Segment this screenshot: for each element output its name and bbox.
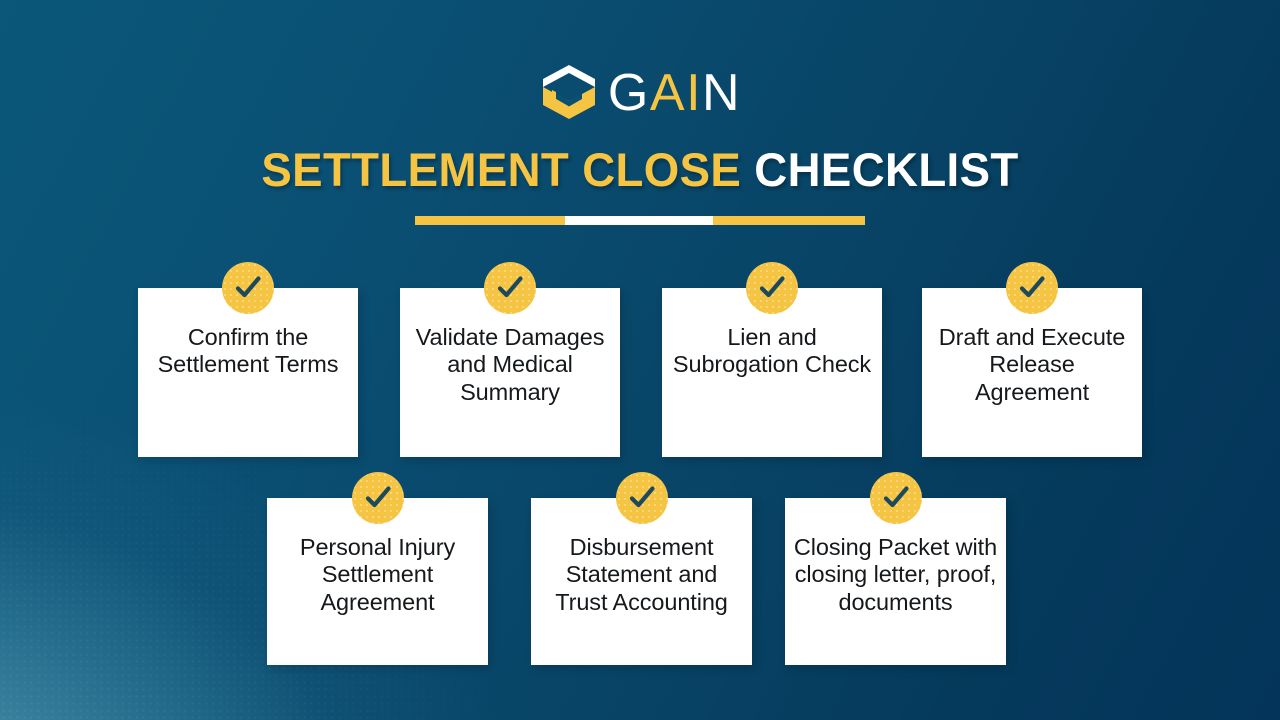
- logo-letter-i: I: [686, 64, 702, 122]
- logo-letter-g: G: [608, 64, 650, 122]
- check-mark-icon: [870, 472, 922, 524]
- title-divider: [415, 216, 865, 225]
- page-title-plain: CHECKLIST: [754, 143, 1018, 196]
- checklist-card-personal-injury-settlement-agreement[interactable]: Personal Injury Settlement Agreement: [267, 498, 488, 665]
- logo-letter-a: A: [650, 64, 686, 122]
- check-mark-icon: [484, 262, 536, 314]
- brand-wordmark: GAIN: [608, 67, 741, 119]
- checklist-card-label: Confirm the Settlement Terms: [146, 324, 350, 379]
- infographic-canvas: GAIN SETTLEMENT CLOSE CHECKLIST Confirm …: [0, 0, 1280, 720]
- divider-segment-white-center: [565, 216, 713, 225]
- checklist-card-label: Validate Damages and Medical Summary: [408, 324, 612, 406]
- check-mark-icon: [1006, 262, 1058, 314]
- checklist-card-label: Lien and Subrogation Check: [670, 324, 874, 379]
- checklist-card-closing-packet[interactable]: Closing Packet with closing letter, proo…: [785, 498, 1006, 665]
- checklist-card-label: Closing Packet with closing letter, proo…: [793, 534, 998, 616]
- gain-hexagon-logo-icon: [539, 62, 599, 122]
- checklist-card-confirm-settlement-terms[interactable]: Confirm the Settlement Terms: [138, 288, 358, 457]
- page-title-highlight: SETTLEMENT CLOSE: [261, 143, 741, 196]
- check-mark-icon: [746, 262, 798, 314]
- checklist-card-draft-execute-release-agreement[interactable]: Draft and Execute Release Agreement: [922, 288, 1142, 457]
- checklist-card-disbursement-statement-trust-accounting[interactable]: Disbursement Statement and Trust Account…: [531, 498, 752, 665]
- checklist-card-lien-subrogation-check[interactable]: Lien and Subrogation Check: [662, 288, 882, 457]
- page-title: SETTLEMENT CLOSE CHECKLIST: [19, 145, 1261, 194]
- checklist-card-label: Disbursement Statement and Trust Account…: [539, 534, 744, 616]
- brand-logo: GAIN: [0, 61, 1280, 123]
- checklist-card-label: Personal Injury Settlement Agreement: [275, 534, 480, 616]
- divider-segment-yellow-left: [415, 216, 565, 225]
- checklist-card-label: Draft and Execute Release Agreement: [930, 324, 1134, 406]
- check-mark-icon: [616, 472, 668, 524]
- divider-segment-yellow-right: [713, 216, 865, 225]
- logo-letter-n: N: [702, 64, 741, 122]
- check-mark-icon: [352, 472, 404, 524]
- check-mark-icon: [222, 262, 274, 314]
- checklist-card-validate-damages-medical-summary[interactable]: Validate Damages and Medical Summary: [400, 288, 620, 457]
